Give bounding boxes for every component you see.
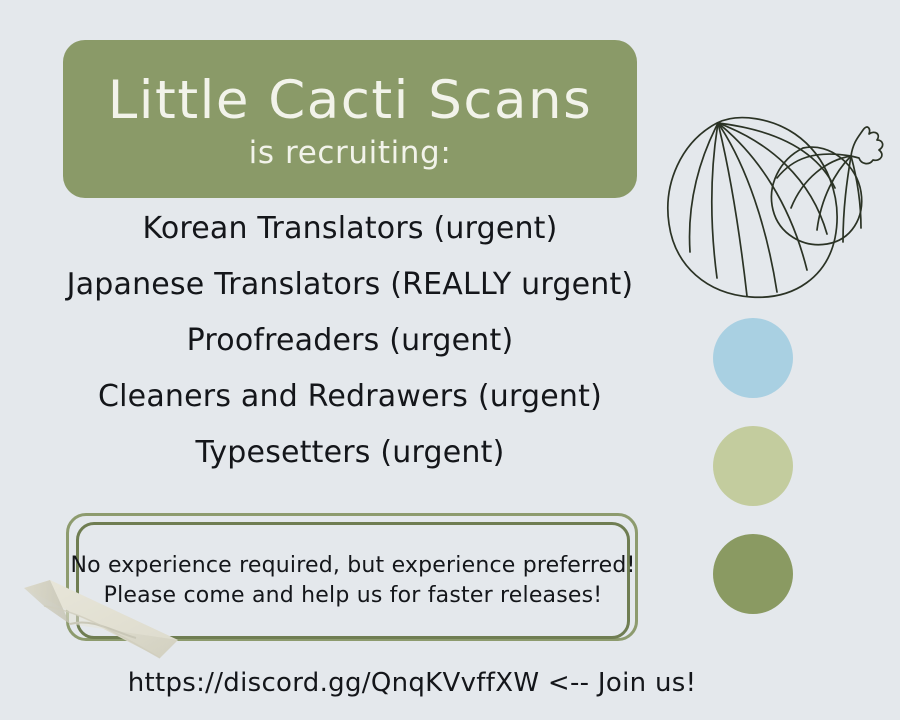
note-box: No experience required, but experience p… (76, 522, 630, 639)
discord-invite-link[interactable]: https://discord.gg/QnqKVvffXW <-- Join u… (0, 668, 900, 698)
header-subtitle: is recruiting: (249, 136, 452, 170)
role-item-japanese-translators: Japanese Translators (REALLY urgent) (67, 270, 634, 300)
swatch-olive-green (713, 534, 793, 614)
role-item-typesetters: Typesetters (urgent) (196, 438, 505, 468)
role-item-cleaners-redrawers: Cleaners and Redrawers (urgent) (98, 382, 602, 412)
swatch-light-blue (713, 318, 793, 398)
cactus-illustration-icon (655, 38, 900, 308)
note-line-experience: No experience required, but experience p… (70, 551, 635, 581)
roles-list: Korean Translators (urgent) Japanese Tra… (40, 214, 660, 468)
note-line-invitation: Please come and help us for faster relea… (104, 581, 603, 611)
header-banner: Little Cacti Scans is recruiting: (63, 40, 637, 198)
role-item-korean-translators: Korean Translators (urgent) (142, 214, 557, 244)
swatch-pale-sage (713, 426, 793, 506)
discord-invite-text: https://discord.gg/QnqKVvffXW <-- Join u… (128, 668, 697, 698)
role-item-proofreaders: Proofreaders (urgent) (187, 326, 514, 356)
recruitment-poster: Little Cacti Scans is recruiting: Korean… (0, 0, 900, 720)
page-title: Little Cacti Scans (108, 74, 592, 128)
